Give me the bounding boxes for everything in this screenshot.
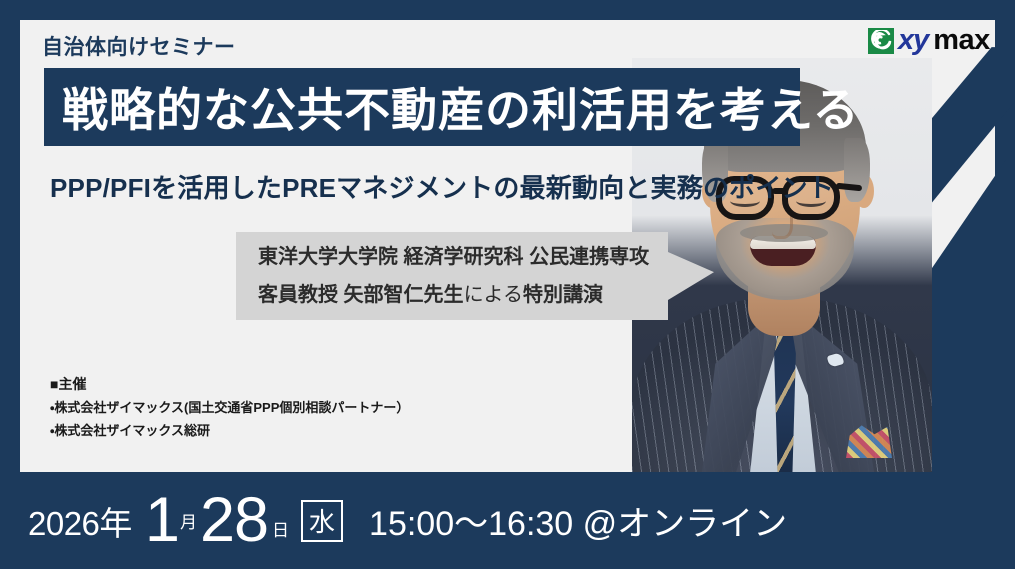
schedule-time-place: 15:00〜16:30 @オンライン [369,496,787,545]
seminar-banner: xy max 自治体向けセミナー 戦略的な公共不動産の利活用を考える PPP/P… [0,0,1015,569]
speaker-name-line: 客員教授 矢部智仁先生による特別講演 [258,276,646,314]
logo-text-xy: xy [898,26,928,55]
speaker-lecture-type: 特別講演 [523,284,603,306]
speaker-affiliation: 東洋大学大学院 経済学研究科 公民連携専攻 [258,238,646,276]
speaker-connector: による [464,284,523,306]
xymax-swirl-icon [868,28,894,54]
subtitle: PPP/PFIを活用したPREマネジメントの最新動向と実務のポイント [50,168,834,205]
schedule-month-number: 1 [145,489,179,552]
organizer-heading: ■主催 [50,374,409,396]
schedule-bar: 2026年 1 月 28 日 水 15:00〜16:30 @オンライン 参加 無… [0,472,1015,569]
logo-text-max: max [933,26,990,55]
schedule-month-unit: 月 [180,508,197,533]
schedule-year: 2026年 [28,497,132,545]
organizer-item-0: ・株式会社ザイマックス(国土交通省PPP個別相談パートナー） [50,396,409,419]
title-bar: 戦略的な公共不動産の利活用を考える [44,68,800,146]
schedule-row: 2026年 1 月 28 日 水 15:00〜16:30 @オンライン [28,472,787,569]
schedule-day-unit: 日 [272,516,289,541]
organizer-block: ■主催 ・株式会社ザイマックス(国土交通省PPP個別相談パートナー） ・株式会社… [50,374,409,442]
hair-side-right-shape [844,138,870,202]
page-title: 戦略的な公共不動産の利活用を考える [62,74,860,140]
schedule-day-of-week: 水 [301,500,343,542]
xymax-logo: xy max [868,26,990,55]
speaker-bubble: 東洋大学大学院 経済学研究科 公民連携専攻 客員教授 矢部智仁先生による特別講演 [236,232,668,320]
schedule-day-number: 28 [200,489,268,552]
organizer-item-1: ・株式会社ザイマックス総研 [50,419,409,442]
speaker-title-name: 客員教授 矢部智仁先生 [258,284,464,306]
eyebrow-label: 自治体向けセミナー [42,31,236,61]
